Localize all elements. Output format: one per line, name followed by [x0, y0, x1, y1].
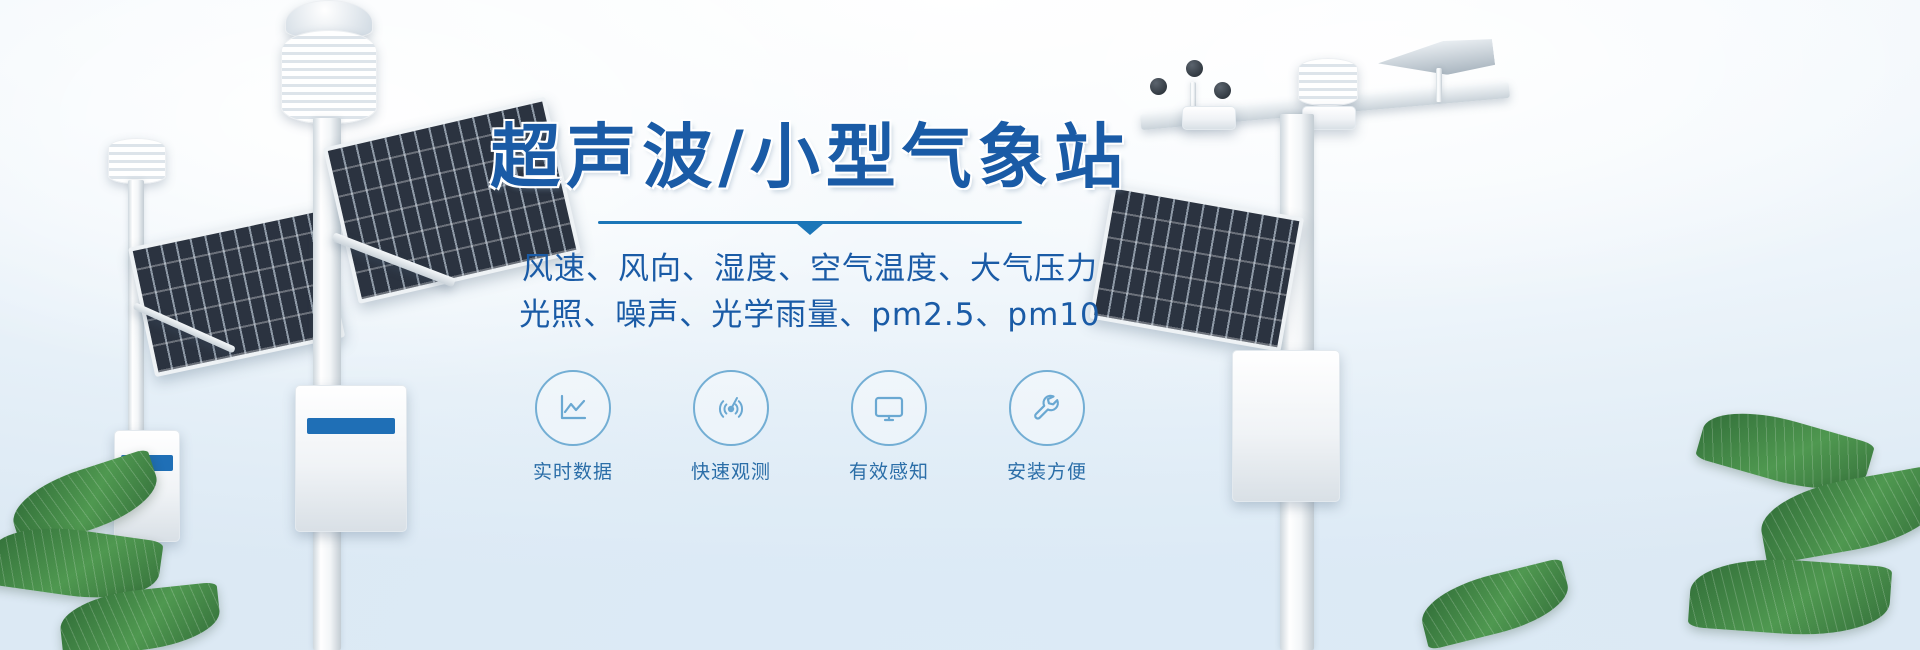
enclosure-label — [307, 418, 395, 434]
banner-content: 超声波/小型气象站 风速、风向、湿度、空气温度、大气压力 光照、噪声、光学雨量、… — [440, 118, 1180, 484]
feature-icon-ring — [1009, 370, 1085, 446]
feature-list: 实时数据 快速观测 — [440, 370, 1180, 484]
divider-triangle-icon — [796, 223, 824, 235]
feature-label: 快速观测 — [676, 457, 786, 484]
weather-station-right — [1120, 10, 1540, 650]
monitor-display-icon — [871, 390, 907, 426]
anemometer-cup — [1186, 60, 1203, 77]
feature-label: 安装方便 — [992, 457, 1102, 484]
feature-label: 有效感知 — [834, 457, 944, 484]
subtitle-line-2: 光照、噪声、光学雨量、pm2.5、pm10 — [440, 292, 1180, 338]
anemometer-cup — [1150, 78, 1167, 95]
feature-item-realtime-data[interactable]: 实时数据 — [518, 370, 628, 484]
control-enclosure — [1232, 350, 1340, 502]
feature-icon-ring — [851, 370, 927, 446]
product-banner: 超声波/小型气象站 风速、风向、湿度、空气温度、大气压力 光照、噪声、光学雨量、… — [0, 0, 1920, 650]
subtitle-line-1: 风速、风向、湿度、空气温度、大气压力 — [440, 246, 1180, 292]
radiation-shield-icon — [281, 30, 377, 124]
wind-vane — [1378, 34, 1498, 96]
title-divider — [598, 218, 1022, 232]
vane-shaft — [1436, 68, 1442, 102]
feature-label: 实时数据 — [518, 457, 628, 484]
anemometer-cup — [1214, 82, 1231, 99]
control-enclosure — [295, 385, 407, 532]
cup-anemometer — [1150, 60, 1240, 110]
mounting-bracket — [1182, 106, 1236, 130]
radiation-shield-icon — [108, 138, 166, 184]
feature-item-effective-sensing[interactable]: 有效感知 — [834, 370, 944, 484]
radar-signal-icon — [713, 390, 749, 426]
page-title: 超声波/小型气象站 — [440, 118, 1180, 196]
wrench-icon — [1029, 390, 1065, 426]
foliage-leaf — [1688, 553, 1893, 641]
feature-item-fast-observation[interactable]: 快速观测 — [676, 370, 786, 484]
feature-item-easy-installation[interactable]: 安装方便 — [992, 370, 1102, 484]
line-chart-icon — [555, 390, 591, 426]
feature-icon-ring — [693, 370, 769, 446]
radiation-shield-icon — [1298, 58, 1358, 106]
feature-icon-ring — [535, 370, 611, 446]
